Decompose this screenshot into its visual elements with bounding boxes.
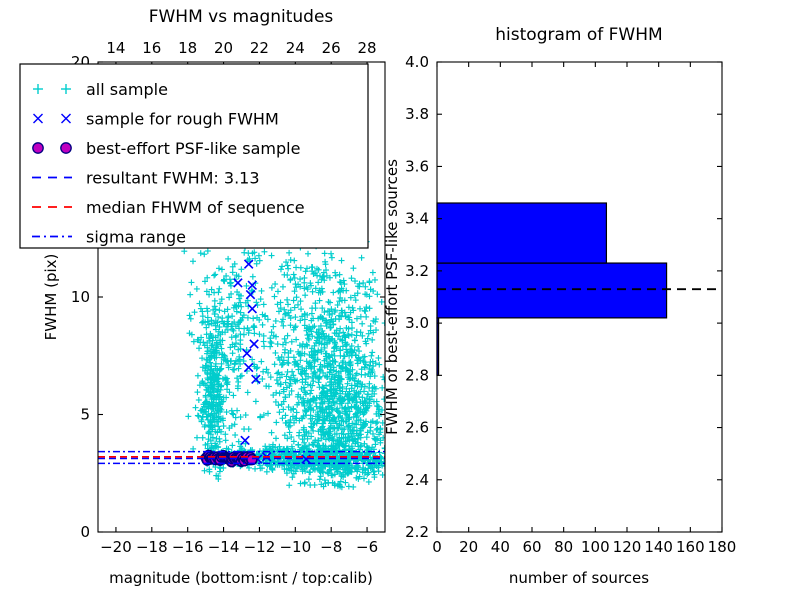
histogram-y-tick-label: 3.8 <box>405 105 429 123</box>
histogram-x-tick-label: 140 <box>644 538 673 556</box>
legend-item-label: all sample <box>86 80 168 99</box>
scatter-x-tick-label: −20 <box>100 538 132 556</box>
scatter-x-tick-label: −12 <box>244 538 276 556</box>
histogram-y-tick-label: 3.6 <box>405 157 429 175</box>
scatter-top-tick-label: 14 <box>106 39 125 57</box>
histogram-y-tick-label: 3.0 <box>405 314 429 332</box>
scatter-top-tick-label: 24 <box>286 39 305 57</box>
histogram-y-tick-label: 3.4 <box>405 210 429 228</box>
legend-item-label: best-effort PSF-like sample <box>86 139 300 158</box>
histogram-y-tick-label: 2.2 <box>405 523 429 541</box>
scatter-x-tick-label: −18 <box>136 538 168 556</box>
scatter-top-tick-label: 16 <box>142 39 161 57</box>
histogram-x-tick-label: 100 <box>581 538 610 556</box>
legend: all samplesample for rough FWHMbest-effo… <box>20 64 368 248</box>
histogram-panel-title: histogram of FWHM <box>495 25 662 45</box>
histogram-y-tick-label: 2.4 <box>405 471 429 489</box>
histogram-bar <box>437 203 606 263</box>
scatter-panel-title: FWHM vs magnitudes <box>149 7 334 27</box>
histogram-bar <box>437 263 667 318</box>
legend-item-label: resultant FWHM: 3.13 <box>86 169 260 188</box>
scatter-y-tick-label: 5 <box>80 406 90 424</box>
scatter-x-axis-label: magnitude (bottom:isnt / top:calib) <box>109 569 373 587</box>
legend-circle-icon <box>33 143 43 153</box>
histogram-x-tick-labels: 020406080100120140160180 <box>432 538 736 556</box>
legend-item-label: median FHWM of sequence <box>86 198 305 217</box>
histogram-y-tick-label: 2.6 <box>405 419 429 437</box>
histogram-x-tick-label: 60 <box>522 538 541 556</box>
scatter-x-tick-label: −16 <box>172 538 204 556</box>
histogram-y-tick-label: 3.2 <box>405 262 429 280</box>
scatter-y-tick-label: 10 <box>71 288 90 306</box>
scatter-x-tick-label: −6 <box>356 538 378 556</box>
histogram-y-axis-label: FWHM of best-effort PSF-like sources <box>383 159 401 435</box>
scatter-y-tick-label: 0 <box>80 523 90 541</box>
legend-circle-icon <box>61 143 71 153</box>
scatter-y-axis-label: FWHM (pix) <box>42 254 60 341</box>
legend-item-label: sigma range <box>86 228 186 247</box>
histogram-x-tick-label: 0 <box>432 538 442 556</box>
scatter-x-tick-label: −14 <box>208 538 240 556</box>
histogram-x-axis-label: number of sources <box>509 569 649 587</box>
scatter-top-tick-label: 20 <box>214 39 233 57</box>
histogram-x-tick-label: 120 <box>613 538 642 556</box>
histogram-x-tick-label: 40 <box>491 538 510 556</box>
matplotlib-figure: −20−18−16−14−12−10−8−6 051020 1416182022… <box>0 0 800 600</box>
histogram-x-tick-label: 20 <box>459 538 478 556</box>
scatter-top-tick-label: 26 <box>322 39 341 57</box>
scatter-x-tick-label: −10 <box>279 538 311 556</box>
histogram-y-tick-label: 2.8 <box>405 366 429 384</box>
histogram-y-tick-label: 4.0 <box>405 53 429 71</box>
legend-item-label: sample for rough FWHM <box>86 110 279 129</box>
histogram-x-tick-label: 180 <box>708 538 737 556</box>
figure-canvas: −20−18−16−14−12−10−8−6 051020 1416182022… <box>0 0 800 600</box>
scatter-x-tick-label: −8 <box>320 538 342 556</box>
histogram-x-tick-label: 80 <box>554 538 573 556</box>
scatter-top-tick-label: 28 <box>358 39 377 57</box>
scatter-top-tick-label: 22 <box>250 39 269 57</box>
histogram-x-tick-label: 160 <box>676 538 705 556</box>
scatter-top-tick-label: 18 <box>178 39 197 57</box>
scatter-x-tick-labels: −20−18−16−14−12−10−8−6 <box>100 538 378 556</box>
